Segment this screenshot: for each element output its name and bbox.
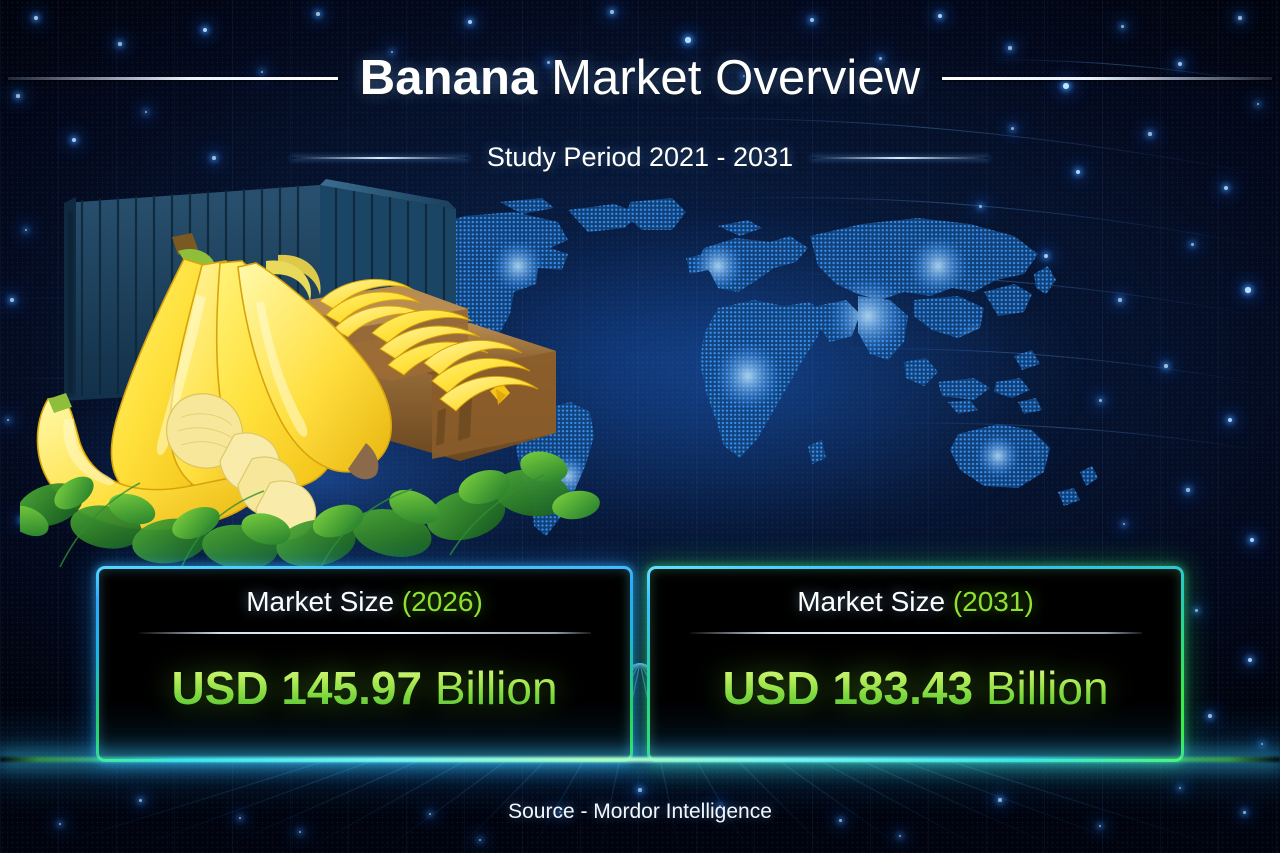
card-label-year: (2031)	[953, 586, 1034, 617]
card-divider	[139, 632, 591, 634]
page-title: Banana Market Overview	[360, 54, 920, 104]
card-baseline-glow	[0, 757, 1280, 762]
card-label: Market Size (2031)	[673, 586, 1158, 618]
source-credit: Source - Mordor Intelligence	[0, 800, 1280, 824]
card-value-unit: Billion	[422, 662, 558, 714]
card-label-year: (2026)	[402, 586, 483, 617]
card-value: USD 145.97 Billion	[122, 661, 607, 715]
title-rule-left	[8, 77, 338, 80]
market-size-card-2026: Market Size (2026) USD 145.97 Billion	[96, 566, 633, 762]
card-value-unit: Billion	[973, 662, 1109, 714]
card-value: USD 183.43 Billion	[673, 661, 1158, 715]
banana-illustration	[20, 175, 600, 575]
card-value-amount: USD 145.97	[171, 662, 422, 714]
market-size-card-2031: Market Size (2031) USD 183.43 Billion	[647, 566, 1184, 762]
title-rest: Market Overview	[537, 51, 920, 105]
title-rule-right	[942, 77, 1272, 80]
card-label: Market Size (2026)	[122, 586, 607, 618]
subtitle-row: Study Period 2021 - 2031	[0, 142, 1280, 173]
card-value-amount: USD 183.43	[722, 662, 973, 714]
study-period: Study Period 2021 - 2031	[487, 142, 793, 173]
card-label-text: Market Size	[797, 586, 953, 617]
subtitle-rule-left	[291, 157, 469, 159]
subtitle-rule-right	[811, 157, 989, 159]
title-row: Banana Market Overview	[0, 54, 1280, 104]
card-label-text: Market Size	[246, 586, 402, 617]
stat-card-group: Market Size (2026) USD 145.97 Billion Ma…	[0, 566, 1280, 766]
infographic-canvas: Banana Market Overview Study Period 2021…	[0, 0, 1280, 853]
card-divider	[690, 632, 1142, 634]
title-brand: Banana	[360, 51, 538, 105]
